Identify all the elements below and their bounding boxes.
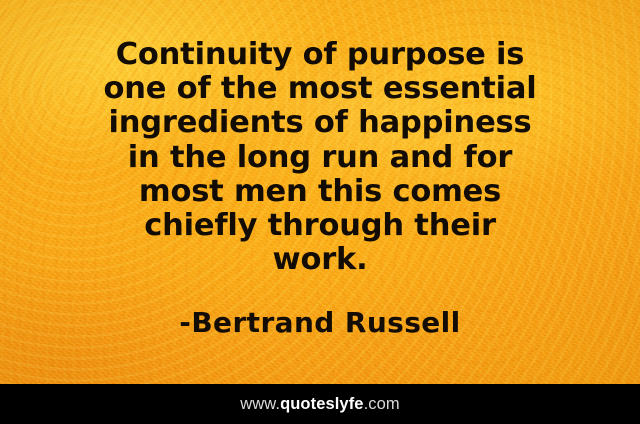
quote-author-attribution: -Bertrand Russell [0, 306, 640, 339]
footer-bar: www.quoteslyfe.com [0, 384, 640, 424]
footer-url-brand: quoteslyfe [280, 395, 364, 413]
quote-image-card: Continuity of purpose is one of the most… [0, 0, 640, 424]
quote-body-text: Continuity of purpose is one of the most… [0, 38, 640, 277]
footer-url-suffix: .com [364, 395, 400, 413]
footer-url-prefix: www. [240, 395, 280, 413]
footer-website-url[interactable]: www.quoteslyfe.com [240, 395, 400, 414]
card-content: Continuity of purpose is one of the most… [0, 0, 640, 424]
